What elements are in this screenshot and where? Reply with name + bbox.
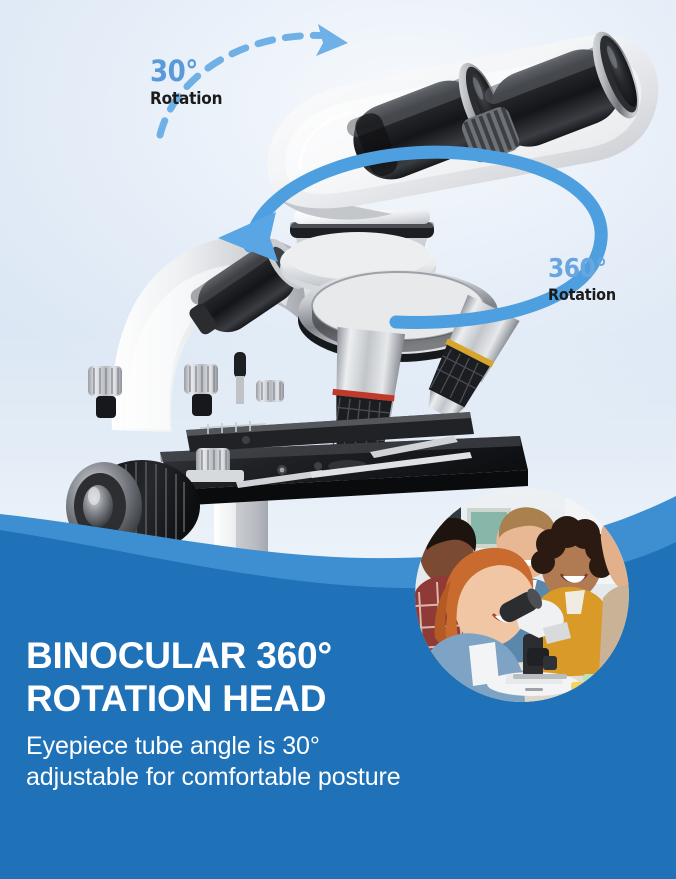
annotation-360-label: Rotation bbox=[548, 287, 616, 303]
annotation-360-degree: 360° Rotation bbox=[548, 256, 616, 303]
annotation-30-value: 30° bbox=[150, 57, 222, 86]
headline: BINOCULAR 360° ROTATION HEAD bbox=[26, 634, 496, 721]
binocular-head bbox=[267, 26, 658, 220]
subcopy: Eyepiece tube angle is 30° adjustable fo… bbox=[26, 731, 496, 794]
annotation-30-label: Rotation bbox=[150, 91, 222, 108]
annotation-30-degree: 30° Rotation bbox=[150, 57, 222, 108]
product-feature-graphic: 30° Rotation 360° Rotation bbox=[0, 0, 676, 879]
dashed-arc-arrowhead bbox=[316, 24, 348, 56]
banner-copy: BINOCULAR 360° ROTATION HEAD Eyepiece tu… bbox=[26, 634, 496, 793]
annotation-360-value: 360° bbox=[548, 256, 616, 282]
